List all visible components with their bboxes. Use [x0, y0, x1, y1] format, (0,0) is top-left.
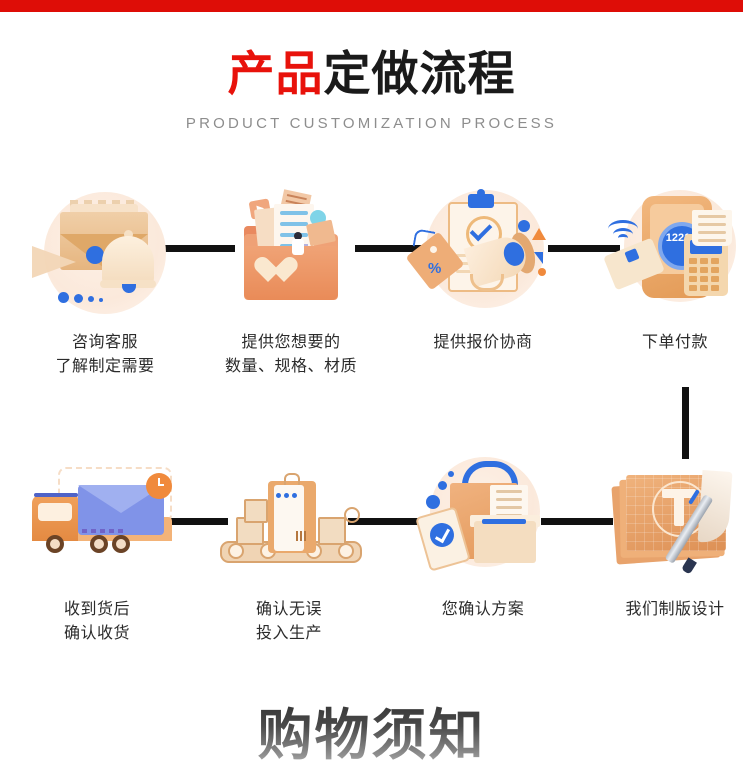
step-label-7: 您确认方案: [390, 598, 576, 622]
step-label-6: 确认无误 投入生产: [196, 598, 382, 646]
page-title-red: 产品: [228, 47, 324, 100]
step-label-5: 收到货后 确认收货: [4, 598, 190, 646]
step-item-4[interactable]: 1221 下单付款: [582, 188, 743, 355]
step-item-3[interactable]: % 提供报价协商: [390, 188, 576, 355]
delivery-truck-icon: [22, 455, 172, 590]
step-label-2: 提供您想要的 数量、规格、材质: [198, 331, 384, 379]
conveyor-production-icon: [214, 455, 364, 590]
footer-title: 购物须知: [0, 690, 743, 770]
keypad-icon: [689, 258, 723, 291]
top-red-bar: [0, 0, 743, 12]
mobile-payment-icon: 1221: [600, 188, 743, 323]
percent-symbol: %: [428, 260, 441, 277]
step-item-6[interactable]: 确认无误 投入生产: [196, 455, 382, 646]
indicator-bars: [296, 531, 306, 541]
shopping-bag-confirm-icon: [408, 455, 558, 590]
page-header: 产品定做流程 PRODUCT CUSTOMIZATION PROCESS: [0, 50, 743, 132]
step-label-1: 咨询客服 了解制定需要: [12, 331, 198, 379]
status-leds: [276, 493, 297, 498]
step-item-2[interactable]: 提供您想要的 数量、规格、材质: [198, 188, 384, 379]
step-label-4: 下单付款: [582, 331, 743, 355]
clipboard-megaphone-icon: %: [408, 188, 558, 323]
page-title: 产品定做流程: [0, 50, 743, 97]
mail-bell-icon: [30, 188, 180, 323]
step-item-1[interactable]: 咨询客服 了解制定需要: [12, 188, 198, 379]
step-label-8: 我们制版设计: [582, 598, 743, 622]
page-subtitle: PRODUCT CUSTOMIZATION PROCESS: [0, 115, 743, 132]
nfc-wifi-icon: [608, 220, 638, 242]
connector-step4-step8: [682, 387, 689, 459]
process-row-top: 咨询客服 了解制定需要 提供您想要的 数量、规格、材质: [0, 188, 743, 388]
process-row-bottom: 收到货后 确认收货 确认无误 投入生产: [0, 455, 743, 655]
step-label-3: 提供报价协商: [390, 331, 576, 355]
folder-documents-icon: [216, 188, 366, 323]
step-item-8[interactable]: 我们制版设计: [582, 455, 743, 622]
step-item-7[interactable]: 您确认方案: [390, 455, 576, 622]
blueprint-pen-icon: [600, 455, 743, 590]
step-item-5[interactable]: 收到货后 确认收货: [4, 455, 190, 646]
page-title-black: 定做流程: [324, 47, 516, 100]
